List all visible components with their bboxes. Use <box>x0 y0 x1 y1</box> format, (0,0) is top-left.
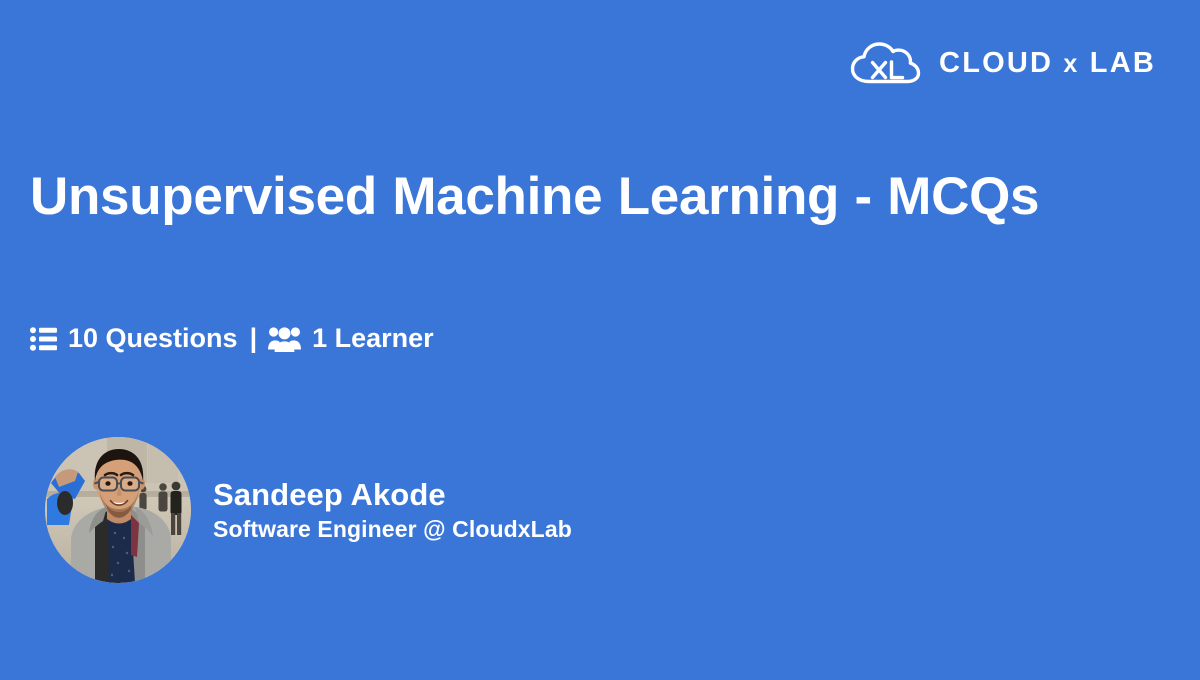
meta-separator: | <box>238 323 269 354</box>
author-info: Sandeep Akode Software Engineer @ Cloudx… <box>213 478 572 542</box>
learners-label: 1 Learner <box>312 323 434 354</box>
author-name: Sandeep Akode <box>213 478 572 512</box>
quiz-banner: CLOUD x LAB Unsupervised Machine Learnin… <box>0 0 1200 680</box>
questions-label: 10 Questions <box>68 323 238 354</box>
quiz-meta: 10 Questions | 1 Learner <box>30 323 434 354</box>
author-role: Software Engineer @ CloudxLab <box>213 517 572 542</box>
questions-count: 10 Questions <box>30 323 238 354</box>
learners-count: 1 Learner <box>268 323 434 354</box>
list-icon <box>30 327 57 351</box>
avatar <box>45 437 191 583</box>
author-block[interactable]: Sandeep Akode Software Engineer @ Cloudx… <box>45 437 572 583</box>
brand-name: CLOUD x LAB <box>939 49 1156 78</box>
page-title: Unsupervised Machine Learning - MCQs <box>30 166 1105 229</box>
user-avatar-photo <box>45 437 191 583</box>
users-group-icon <box>268 326 301 352</box>
cloud-xl-logo-icon <box>847 38 923 88</box>
brand-logo[interactable]: CLOUD x LAB <box>847 38 1156 88</box>
